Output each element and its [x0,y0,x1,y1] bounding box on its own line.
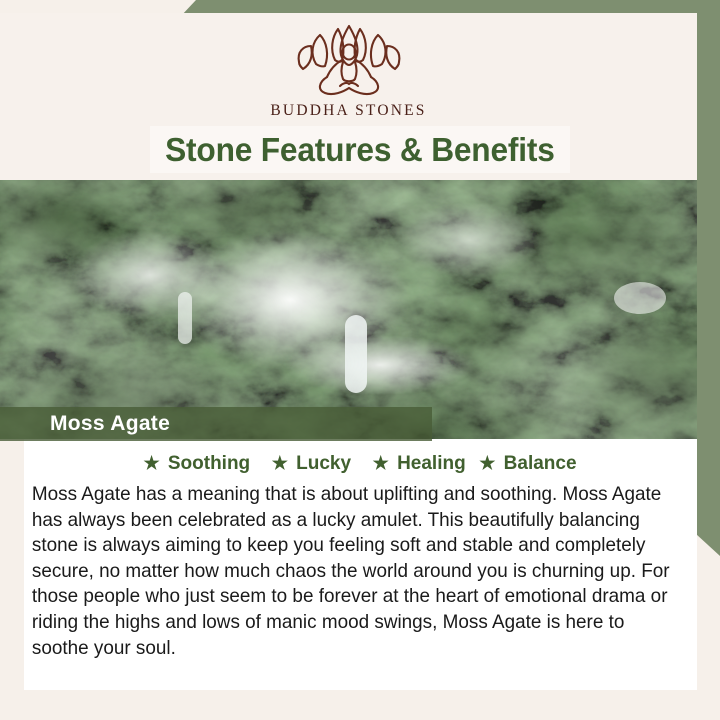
stone-name-bar: Moss Agate [0,407,432,441]
benefits-keywords: ★ Soothing ★ Lucky ★ Healing ★ Balance [24,453,697,475]
star-icon: ★ [478,453,496,473]
moss-agate-texture-image [0,180,697,439]
page-title-band: Stone Features & Benefits [150,126,570,173]
benefit-lucky: Lucky [294,453,353,474]
stone-description: Moss Agate has a meaning that is about u… [24,482,687,661]
decorative-right-band [696,0,720,556]
brand-wordmark: BUDDHA STONES [270,102,426,120]
lotus-meditation-figure-icon [285,22,413,96]
content-card: ★ Soothing ★ Lucky ★ Healing ★ Balance M… [24,439,697,690]
star-icon: ★ [372,453,390,473]
benefit-soothing: Soothing [166,453,252,474]
star-icon: ★ [271,453,289,473]
brand-logo: BUDDHA STONES [0,22,697,120]
benefit-healing: Healing [395,453,468,474]
benefit-balance: Balance [502,453,579,474]
stone-name: Moss Agate [50,412,170,436]
star-icon: ★ [142,453,160,473]
page-title: Stone Features & Benefits [165,131,555,169]
stone-photo [0,180,697,439]
stone-info-card: BUDDHA STONES Stone Features & Benefits [0,0,720,720]
